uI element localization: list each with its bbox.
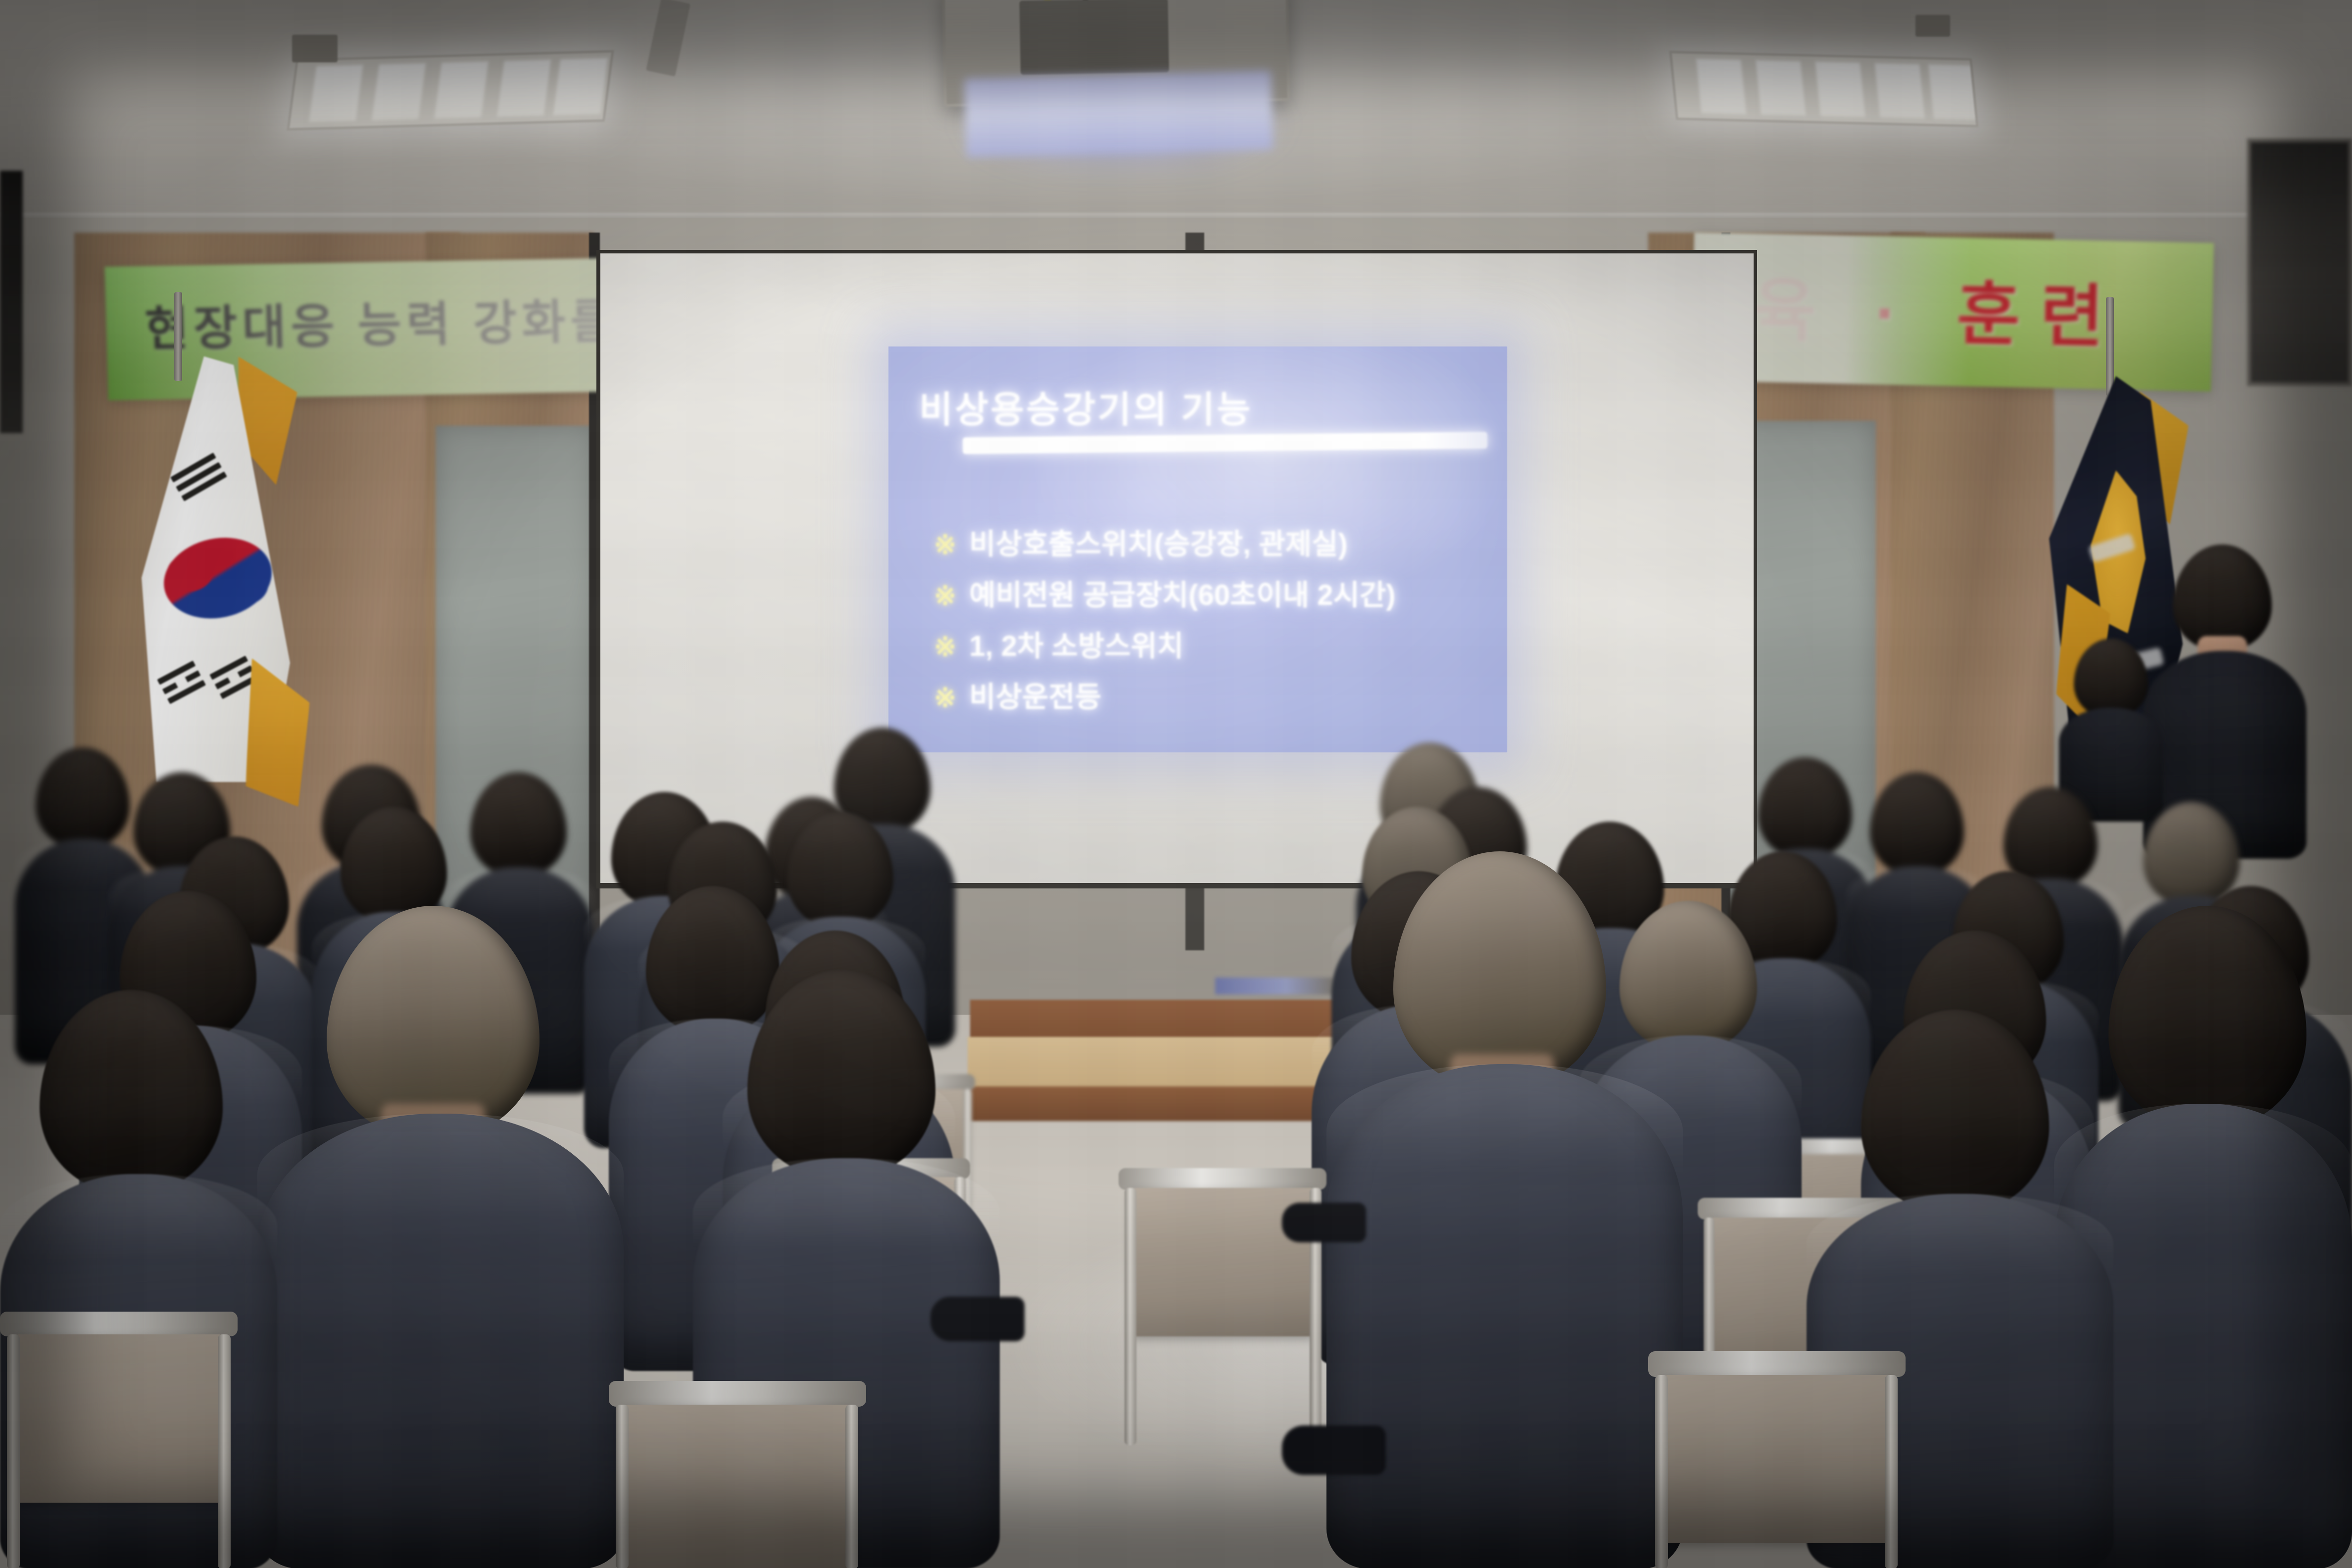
bullet-mark-icon: ※ <box>934 634 956 660</box>
ceiling-vent-left <box>292 35 338 62</box>
presenter-assistant <box>2059 638 2163 802</box>
slide-bullet-text: 비상운전등 <box>969 683 1101 713</box>
ceiling-vent-right <box>1915 15 1950 37</box>
chair <box>609 1381 866 1568</box>
chair-backrest <box>623 1405 852 1568</box>
assistant-head <box>2074 638 2148 718</box>
ceiling-light-fixture-right <box>1669 51 1978 128</box>
stage-step-riser <box>970 1000 1366 1039</box>
taeguk-symbol <box>156 528 279 628</box>
attendee-head <box>1758 757 1852 859</box>
slide-bullet-text: 예비전원 공급장치(60초이내 2시간) <box>969 581 1395 611</box>
korean-national-flag <box>142 356 300 792</box>
slide-bullet-item: ※ 1, 2차 소방스위치 <box>934 632 1507 662</box>
wall-speaker-left <box>0 171 23 433</box>
trigram-geon <box>170 452 230 505</box>
attendee-torso <box>257 1114 624 1568</box>
shoe <box>1282 1425 1386 1475</box>
slide-bullet-text: 비상호출스위치(승강장, 관제실) <box>969 530 1348 560</box>
chair-back-rail <box>0 1312 238 1336</box>
chair-back-rail <box>1119 1168 1326 1190</box>
chair-leg <box>7 1334 20 1568</box>
projector-lens <box>1019 0 1169 75</box>
attendee-head <box>470 772 567 877</box>
banner-right: 육 · 훈련 <box>1691 232 2214 392</box>
slide-bullet-item: ※ 비상운전등 <box>934 683 1507 713</box>
attendee-head <box>1870 772 1964 876</box>
photo-scene: 현장대응 능력 강화를 육 · 훈련 비상용승강기의 기능 ※ 비상호출스위치(… <box>0 0 2352 1568</box>
chair-back-rail <box>1648 1351 1906 1377</box>
chair <box>1648 1351 1906 1568</box>
presenter-head <box>2173 544 2272 651</box>
bullet-mark-icon: ※ <box>934 532 956 558</box>
slide-bullet-item: ※ 비상호출스위치(승강장, 관제실) <box>934 530 1507 560</box>
chair-leg <box>1885 1375 1898 1568</box>
attendee-head <box>2108 906 2306 1128</box>
wall-display-right <box>2247 139 2352 386</box>
slide-bullet-item: ※ 예비전원 공급장치(60초이내 2시간) <box>934 581 1507 611</box>
attendee-torso <box>1326 1064 1683 1568</box>
chair-leg <box>845 1405 858 1568</box>
projected-slide: 비상용승강기의 기능 ※ 비상호출스위치(승강장, 관제실) ※ 예비전원 공급… <box>888 346 1507 752</box>
bullet-mark-icon: ※ <box>934 685 956 711</box>
chair-backrest <box>1662 1375 1892 1543</box>
projector-glow <box>964 70 1273 157</box>
chair-back-rail <box>609 1381 866 1407</box>
shoe <box>1282 1203 1366 1242</box>
chair-leg <box>616 1405 629 1568</box>
attendee-head <box>747 970 935 1178</box>
slide-title: 비상용승강기의 기능 <box>919 380 1252 433</box>
attendee-head <box>1861 1010 2049 1213</box>
slide-bullet-list: ※ 비상호출스위치(승강장, 관제실) ※ 예비전원 공급장치(60초이내 2시… <box>934 530 1507 734</box>
chair-leg <box>1125 1188 1136 1445</box>
attendee-head <box>40 990 223 1193</box>
attendee-head <box>1393 851 1606 1089</box>
slide-bullet-text: 1, 2차 소방스위치 <box>969 632 1183 662</box>
chair-backrest <box>13 1334 225 1503</box>
chair <box>0 1312 238 1568</box>
bullet-mark-icon: ※ <box>934 583 956 609</box>
trigram-gam <box>157 661 208 709</box>
shoe <box>931 1297 1025 1341</box>
chair-leg <box>218 1334 231 1568</box>
chair-leg <box>1655 1375 1668 1568</box>
attendee-front <box>257 906 624 1568</box>
